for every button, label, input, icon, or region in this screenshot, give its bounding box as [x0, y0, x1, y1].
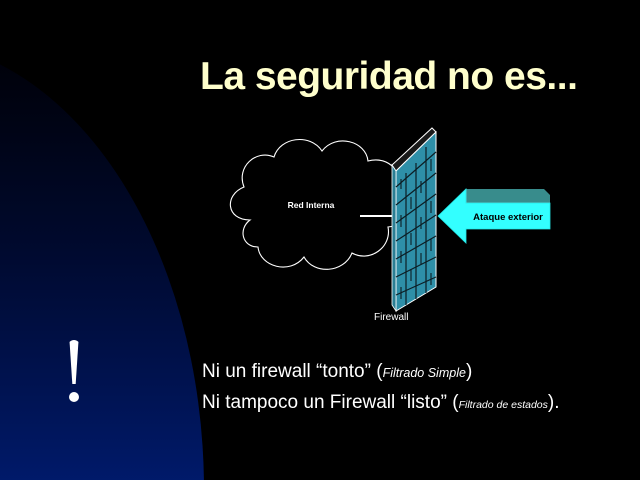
- slide-body-text: Ni un firewall “tonto” (Filtrado Simple)…: [202, 357, 632, 420]
- body-line-2: Ni tampoco un Firewall “listo” (Filtrado…: [202, 388, 632, 420]
- exclamation-mark-icon: [52, 336, 96, 416]
- exclamation-dot: [69, 392, 79, 402]
- slide-title: La seguridad no es...: [200, 55, 620, 100]
- body-line-2-note: Filtrado de estados: [459, 399, 548, 411]
- firewall-label: Firewall: [374, 312, 408, 323]
- network-diagram: Red Interna: [210, 115, 590, 340]
- exclamation-stem: [68, 340, 80, 384]
- body-line-1-main-after: ): [466, 361, 472, 382]
- internal-network-cloud: Red Interna: [230, 140, 406, 270]
- presentation-slide: La seguridad no es... Red Interna: [0, 0, 640, 480]
- body-line-1-main-before: Ni un firewall “tonto” (: [202, 361, 383, 382]
- body-line-1-note: Filtrado Simple: [383, 366, 466, 380]
- cloud-label: Red Interna: [288, 200, 335, 210]
- attack-arrow: Ataque exterior: [438, 189, 550, 243]
- blue-ellipse-decoration: [0, 40, 204, 480]
- body-line-1: Ni un firewall “tonto” (Filtrado Simple): [202, 357, 632, 388]
- body-line-2-main-before: Ni tampoco un Firewall “listo” (: [202, 392, 459, 413]
- attack-label: Ataque exterior: [473, 212, 543, 223]
- body-line-2-main-after: ).: [548, 392, 560, 413]
